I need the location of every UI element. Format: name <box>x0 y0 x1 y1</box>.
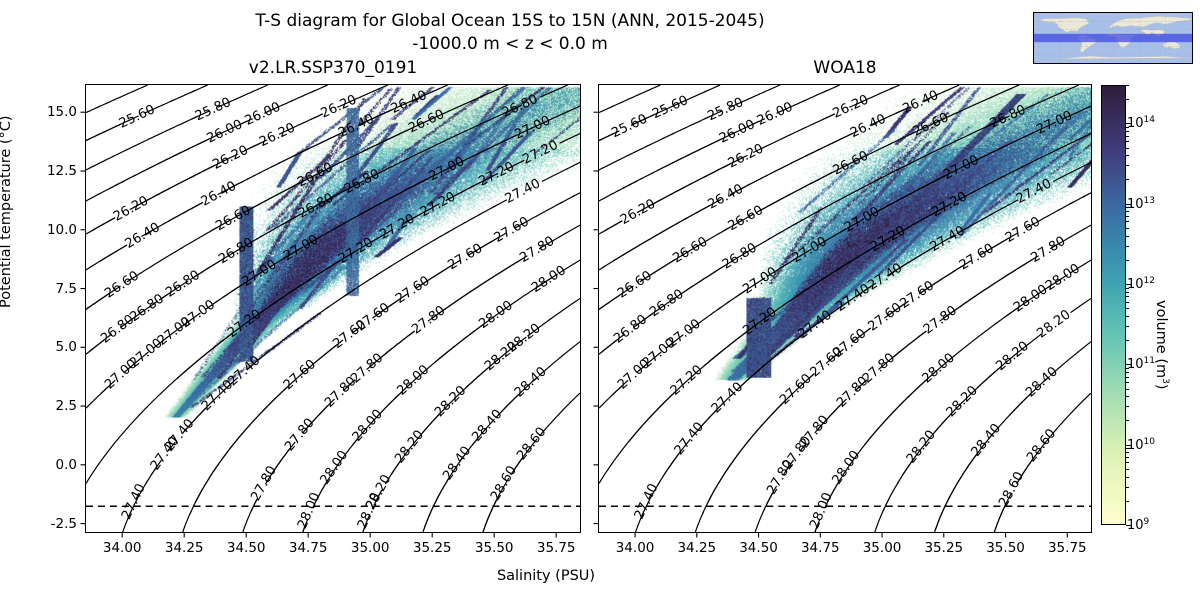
contour-label: 26.60 <box>295 160 335 190</box>
contour-line <box>989 88 1012 98</box>
contour-line <box>296 313 319 330</box>
contour-label: 28.00 <box>830 448 864 487</box>
contour-line <box>168 202 203 221</box>
x-tick-label: 35.00 <box>863 540 902 556</box>
contour-line <box>599 439 631 484</box>
contour-line <box>326 214 361 234</box>
contour-label: 28.00 <box>1011 282 1051 315</box>
x-tick-label: 34.75 <box>801 540 840 556</box>
contour-label: 27.80 <box>1028 234 1068 266</box>
contour-line <box>522 202 563 224</box>
contour-line <box>243 529 244 532</box>
contour-label: 27.40 <box>833 281 872 315</box>
colorbar-minor-tick <box>1126 296 1129 297</box>
contour-label: 26.80 <box>127 291 166 325</box>
contour-line <box>634 133 675 153</box>
contour-label: 28.20 <box>392 428 427 467</box>
contour-line <box>540 393 580 436</box>
contour-label: 28.20 <box>505 321 544 356</box>
contour-line <box>1021 134 1091 168</box>
contour-label: 28.40 <box>512 364 550 400</box>
region-locator-map <box>1033 12 1193 64</box>
contour-line <box>605 221 623 231</box>
contour-label: 27.40 <box>865 261 905 294</box>
colorbar-minor-tick <box>1126 155 1129 156</box>
contour-line <box>92 218 115 231</box>
contour-label: 26.20 <box>257 120 297 150</box>
contour-line <box>539 342 580 376</box>
colorbar-minor-tick <box>1126 487 1129 488</box>
contour-line <box>943 85 960 92</box>
contour-line <box>478 200 507 216</box>
contour-label: 28.00 <box>529 263 569 296</box>
contour-label: 26.80 <box>720 240 760 272</box>
x-tick-label: 34.50 <box>739 540 778 556</box>
contour-label: 27.60 <box>897 278 937 312</box>
colorbar-minor-tick <box>1126 406 1129 407</box>
contour-label: 25.60 <box>650 93 690 122</box>
colorbar-minor-tick <box>1126 136 1129 137</box>
colorbar-minor-tick <box>1126 316 1129 317</box>
colorbar-minor-tick <box>1126 420 1129 421</box>
colorbar-minor-tick <box>1126 389 1129 390</box>
colorbar-minor-tick <box>1126 477 1129 478</box>
colorbar-tick-label: 1010 <box>1127 436 1155 452</box>
contour-label: 27.40 <box>796 308 835 342</box>
world-map-svg <box>1034 13 1192 63</box>
colorbar-tick-label: 109 <box>1127 517 1149 533</box>
contour-label: 28.00 <box>350 407 386 445</box>
contour-label: 27.00 <box>740 265 780 298</box>
contour-label: 26.40 <box>848 112 888 142</box>
x-tick-label: 35.75 <box>537 540 576 556</box>
contour-label: 26.20 <box>210 143 250 173</box>
colorbar-minor-tick <box>1126 452 1129 453</box>
contour-label: 27.20 <box>740 305 779 339</box>
contour-label: 27.60 <box>1003 214 1043 246</box>
x-tick-label: 34.25 <box>165 540 204 556</box>
x-axis-label: Salinity (PSU) <box>0 568 1092 584</box>
x-tick-label: 35.50 <box>475 540 514 556</box>
contour-line <box>478 85 508 98</box>
contour-line <box>1051 393 1091 436</box>
colorbar-tick-label: 1014 <box>1127 115 1155 131</box>
contour-label: 27.40 <box>632 481 662 521</box>
colorbar-tick-label: 1013 <box>1127 195 1155 211</box>
figure-subtitle: -1000.0 m < z < 0.0 m <box>0 33 1020 56</box>
contour-label: 26.40 <box>336 112 376 142</box>
contour-label: 26.00 <box>205 117 245 147</box>
colorbar-minor-tick <box>1126 302 1129 303</box>
colorbar-minor-tick <box>1126 207 1129 208</box>
contour-label: 27.20 <box>225 307 264 341</box>
contour-label: 27.60 <box>281 357 319 393</box>
contour-line <box>957 214 992 234</box>
contour-line <box>244 508 253 529</box>
contour-line <box>171 91 194 101</box>
contour-label: 26.80 <box>342 167 382 198</box>
colorbar-tick-label: 1011 <box>1127 356 1155 372</box>
colorbar-minor-tick <box>1126 216 1129 217</box>
contour-line <box>803 91 826 101</box>
contour-line <box>291 91 314 101</box>
x-tick-label: 34.75 <box>289 540 328 556</box>
contour-label: 28.00 <box>807 491 835 531</box>
colorbar-minor-tick <box>1126 448 1129 449</box>
contour-line <box>446 214 481 234</box>
contour-label: 27.00 <box>179 297 218 331</box>
contour-label: 27.20 <box>336 235 376 267</box>
contour-line <box>823 85 840 92</box>
colorbar-minor-tick <box>1126 288 1129 289</box>
contour-line <box>800 196 847 221</box>
contour-label: 28.00 <box>1043 261 1083 294</box>
contour-line <box>943 97 992 119</box>
colorbar-minor-tick <box>1126 382 1129 383</box>
contour-line <box>86 268 89 270</box>
contour-line <box>311 85 328 92</box>
contour-line <box>424 478 449 529</box>
density-contours-observations: 25.6025.6025.8026.0026.0026.2026.2026.20… <box>599 85 1091 532</box>
contour-label: 28.20 <box>432 383 469 420</box>
contour-label: 26.80 <box>611 312 650 347</box>
contour-label: 27.60 <box>777 371 815 408</box>
contour-label: 28.00 <box>476 298 515 332</box>
contour-line <box>875 508 885 532</box>
colorbar[interactable] <box>1101 85 1126 525</box>
contour-label: 28.20 <box>904 428 939 467</box>
contour-line <box>326 295 346 309</box>
contour-line <box>1015 85 1079 113</box>
colorbar-minor-tick <box>1126 141 1129 142</box>
contour-label: 26.20 <box>726 141 766 171</box>
contour-line <box>86 187 112 201</box>
contour-line <box>548 298 580 320</box>
contour-label: 27.00 <box>790 234 830 266</box>
contour-line <box>998 133 1033 150</box>
colorbar-minor-tick <box>1126 99 1129 100</box>
contour-line <box>560 134 580 144</box>
contour-line <box>256 223 285 240</box>
colorbar-minor-tick <box>1126 326 1129 327</box>
contour-line <box>989 200 1018 216</box>
panel-title-observations: WOA18 <box>598 58 1092 78</box>
contour-label: 27.00 <box>512 113 552 142</box>
contour-line <box>695 511 703 532</box>
contour-label: 27.40 <box>1014 176 1054 207</box>
contour-label: 28.20 <box>944 383 981 420</box>
contour-line <box>101 245 127 261</box>
colorbar-minor-tick <box>1126 211 1129 212</box>
contour-label: 28.20 <box>1034 307 1073 341</box>
colorbar-minor-tick <box>1126 292 1129 293</box>
contour-line <box>86 118 194 170</box>
contour-line <box>599 352 602 354</box>
contour-label: 27.00 <box>427 154 467 184</box>
contour-label: 27.40 <box>503 176 543 207</box>
contour-label: 27.20 <box>668 362 706 398</box>
colorbar-minor-tick <box>1126 165 1129 166</box>
colorbar-minor-tick <box>1126 308 1129 309</box>
contour-line <box>1050 342 1091 376</box>
x-tick-label: 35.50 <box>986 540 1025 556</box>
colorbar-minor-tick <box>1126 127 1129 128</box>
contour-label: 25.80 <box>193 95 233 124</box>
contour-label: 27.20 <box>476 159 516 189</box>
contour-line <box>865 379 928 445</box>
contour-line <box>352 274 378 291</box>
contour-label: 28.40 <box>1023 364 1061 400</box>
contour-line <box>98 85 148 107</box>
contour-line <box>1053 162 1091 181</box>
contour-line <box>756 508 765 529</box>
contour-label: 26.60 <box>615 268 655 301</box>
contour-line <box>936 454 977 529</box>
contour-label: 27.00 <box>941 153 981 183</box>
colorbar-minor-tick <box>1126 236 1129 237</box>
x-tick-label: 35.00 <box>351 540 390 556</box>
colorbar-minor-tick <box>1126 372 1129 373</box>
colorbar-minor-tick <box>1126 246 1129 247</box>
contour-line <box>86 376 180 483</box>
contour-label: 26.60 <box>213 203 253 234</box>
contour-line <box>86 352 89 354</box>
contour-label: 27.20 <box>418 189 458 220</box>
contour-line <box>893 331 926 357</box>
contour-line <box>1071 298 1091 312</box>
contour-label: 27.00 <box>842 204 882 235</box>
contour-label: 27.00 <box>281 232 321 264</box>
y-axis-label: Potential temperature (°C) <box>0 115 14 308</box>
contour-label: 27.60 <box>831 326 870 361</box>
colorbar-minor-tick <box>1126 377 1129 378</box>
x-tick-label: 35.25 <box>413 540 452 556</box>
colorbar-minor-tick <box>1126 179 1129 180</box>
contour-label: 28.60 <box>488 463 520 503</box>
contour-label: 26.40 <box>706 182 746 213</box>
contour-label: 26.40 <box>389 88 429 117</box>
contour-line <box>1082 193 1091 198</box>
contour-line <box>540 85 567 97</box>
colorbar-minor-tick <box>1126 260 1129 261</box>
colorbar-minor-tick <box>1126 457 1129 458</box>
contour-label: 27.60 <box>445 241 485 273</box>
y-tick-label: 5.0 <box>0 339 77 355</box>
contour-label: 27.40 <box>225 353 263 389</box>
colorbar-minor-tick <box>1126 148 1129 149</box>
contour-label: 27.20 <box>520 138 560 168</box>
contour-label: 26.00 <box>755 100 795 129</box>
figure-canvas: T-S diagram for Global Ocean 15S to 15N … <box>0 0 1200 600</box>
contour-line <box>191 85 207 92</box>
contour-line <box>969 172 1013 194</box>
contour-label: 28.40 <box>440 444 474 483</box>
colorbar-tick-label: 1012 <box>1127 276 1155 292</box>
axes-model[interactable]: 25.6025.8026.0026.0026.2026.2026.2026.20… <box>85 84 581 533</box>
contour-line <box>890 85 899 89</box>
contour-line <box>704 85 720 92</box>
contour-line <box>1010 85 1020 89</box>
contour-line <box>551 106 580 119</box>
contour-line <box>886 481 899 505</box>
contour-label: 28.60 <box>996 469 1027 509</box>
contour-line <box>768 223 797 240</box>
contour-label: 27.80 <box>517 234 557 266</box>
contour-label: 26.80 <box>988 102 1028 131</box>
contour-line <box>247 328 300 370</box>
contour-label: 26.60 <box>406 107 446 136</box>
contour-label: 26.80 <box>500 92 540 121</box>
contour-label: 28.00 <box>394 362 432 398</box>
colorbar-minor-tick <box>1126 131 1129 132</box>
colorbar-minor-tick <box>1126 396 1129 397</box>
contour-label: 27.20 <box>868 223 908 255</box>
contour-label: 27.00 <box>1034 108 1074 137</box>
contour-label: 28.00 <box>318 448 352 487</box>
contour-label: 25.60 <box>609 112 649 142</box>
contour-label: 26.60 <box>911 110 951 139</box>
contour-line <box>367 331 415 370</box>
contour-label: 26.60 <box>670 234 710 266</box>
contour-label: 26.60 <box>831 148 871 178</box>
contour-label: 27.40 <box>709 380 746 417</box>
density-contours-model: 25.6025.8026.0026.0026.2026.2026.2026.20… <box>86 85 580 532</box>
contour-label: 27.60 <box>957 241 997 273</box>
contour-line <box>599 190 619 201</box>
contour-label: 27.20 <box>377 211 417 243</box>
contour-line <box>183 511 191 532</box>
contour-label: 27.60 <box>393 274 433 307</box>
contour-label: 28.00 <box>295 491 323 531</box>
colorbar-minor-tick <box>1126 469 1129 470</box>
colorbar-minor-tick <box>1126 221 1129 222</box>
colorbar-label: volume (m3) <box>1153 300 1170 390</box>
x-tick-label: 34.50 <box>227 540 266 556</box>
contour-line <box>571 193 580 198</box>
colorbar-gradient <box>1102 86 1125 524</box>
contour-label: 26.80 <box>647 287 686 321</box>
x-tick-label: 34.00 <box>103 540 142 556</box>
contour-label: 27.40 <box>928 223 968 255</box>
contour-label: 26.80 <box>163 268 203 301</box>
contour-line <box>599 154 631 170</box>
contour-line <box>431 85 448 92</box>
colorbar-minor-tick <box>1126 462 1129 463</box>
colorbar-minor-tick <box>1126 340 1129 341</box>
contour-line <box>599 268 602 270</box>
colorbar-minor-tick <box>1126 85 1129 86</box>
contour-label: 25.60 <box>117 102 157 131</box>
contour-label: 26.00 <box>243 100 283 129</box>
x-tick-label: 35.75 <box>1048 540 1087 556</box>
contour-label: 26.40 <box>901 88 941 117</box>
y-tick-label: 2.5 <box>0 398 77 414</box>
contour-label: 26.60 <box>726 203 766 234</box>
y-tick-label: 0.0 <box>0 457 77 473</box>
colorbar-minor-tick <box>1126 501 1129 502</box>
contour-label: 28.40 <box>969 421 1004 460</box>
y-tick-label: -2.5 <box>0 516 77 532</box>
contour-label: 27.40 <box>119 482 149 522</box>
colorbar-minor-tick <box>1126 368 1129 369</box>
contour-line <box>542 162 580 181</box>
x-tick-label: 35.25 <box>924 540 963 556</box>
contour-label: 28.00 <box>920 351 958 387</box>
axes-observations[interactable]: 25.6025.6025.8026.0026.0026.2026.2026.20… <box>598 84 1092 533</box>
contour-label: 26.80 <box>216 235 256 267</box>
contour-label: 27.60 <box>492 214 532 246</box>
contour-line <box>672 118 707 134</box>
contour-label: 26.60 <box>102 268 142 301</box>
contour-label: 27.20 <box>929 189 969 220</box>
contour-label: 25.80 <box>705 95 745 124</box>
x-tick-label: 34.25 <box>677 540 716 556</box>
contour-label: 26.80 <box>296 191 336 222</box>
contour-label: 27.00 <box>240 257 280 290</box>
x-tick-label: 34.00 <box>616 540 655 556</box>
colorbar-minor-tick <box>1126 228 1129 229</box>
figure-title: T-S diagram for Global Ocean 15S to 15N … <box>0 10 1020 33</box>
contour-label: 26.00 <box>717 117 757 147</box>
contour-label: 28.20 <box>993 339 1032 374</box>
region-highlight-band <box>1034 34 1192 42</box>
panel-title-model: v2.LR.SSP370_0191 <box>85 58 581 78</box>
contour-line <box>755 529 756 532</box>
contour-label: 27.00 <box>665 316 704 351</box>
contour-line <box>611 85 660 107</box>
